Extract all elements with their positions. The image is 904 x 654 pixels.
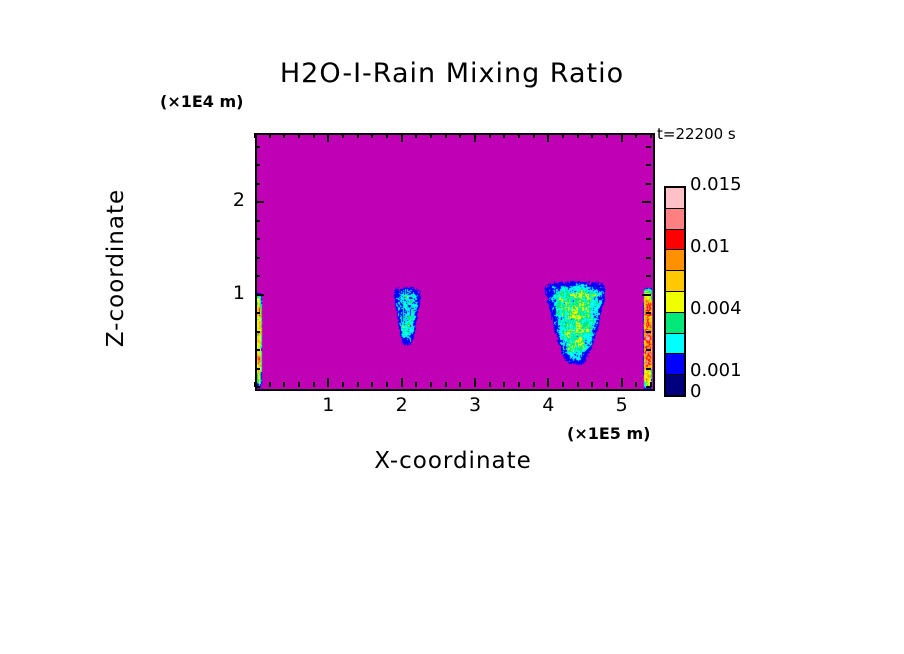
- colorbar-band: [666, 334, 684, 355]
- x-tick-major-top: [474, 133, 476, 142]
- x-tick-minor: [562, 382, 564, 387]
- y-tick-minor-right: [646, 331, 651, 333]
- x-tick-major: [401, 378, 403, 387]
- y-tick-minor-right: [646, 220, 651, 222]
- x-tick-major-top: [401, 133, 403, 142]
- y-tick-minor-right: [646, 386, 651, 388]
- x-tick-minor: [386, 382, 388, 387]
- y-tick-label: 2: [205, 189, 245, 211]
- x-tick-major: [474, 378, 476, 387]
- colorbar-tick-label: 0.015: [690, 174, 742, 195]
- colorbar-band: [666, 250, 684, 271]
- y-tick-minor-right: [646, 349, 651, 351]
- y-tick-minor: [255, 368, 260, 370]
- y-axis-unit-label: (×1E4 m): [160, 92, 243, 111]
- x-tick-minor: [591, 382, 593, 387]
- colorbar-band: [666, 313, 684, 334]
- y-tick-minor-right: [646, 183, 651, 185]
- x-tick-major-top: [547, 133, 549, 142]
- y-tick-major: [255, 294, 264, 296]
- y-tick-minor-right: [646, 312, 651, 314]
- x-tick-minor-top: [518, 133, 520, 138]
- x-tick-minor: [269, 382, 271, 387]
- y-tick-minor: [255, 164, 260, 166]
- y-tick-minor: [255, 275, 260, 277]
- x-tick-minor: [635, 382, 637, 387]
- colorbar-band: [666, 209, 684, 230]
- x-tick-minor-top: [650, 133, 652, 138]
- x-tick-minor-top: [591, 133, 593, 138]
- x-tick-minor: [415, 382, 417, 387]
- y-tick-minor-right: [646, 275, 651, 277]
- y-tick-minor-right: [646, 164, 651, 166]
- x-tick-minor-top: [459, 133, 461, 138]
- x-tick-label: 4: [528, 394, 568, 416]
- y-tick-minor: [255, 238, 260, 240]
- colorbar-band: [666, 375, 684, 395]
- x-tick-minor: [342, 382, 344, 387]
- plot-area: [255, 133, 655, 391]
- x-tick-minor-top: [430, 133, 432, 138]
- x-tick-minor-top: [577, 133, 579, 138]
- x-tick-major-top: [621, 133, 623, 142]
- colorbar-band: [666, 354, 684, 375]
- x-tick-minor-top: [269, 133, 271, 138]
- x-tick-minor-top: [298, 133, 300, 138]
- y-tick-minor-right: [646, 146, 651, 148]
- x-tick-minor: [313, 382, 315, 387]
- x-tick-minor-top: [562, 133, 564, 138]
- figure-title: H2O-I-Rain Mixing Ratio: [0, 58, 904, 89]
- x-tick-minor-top: [371, 133, 373, 138]
- y-tick-minor-right: [646, 238, 651, 240]
- x-tick-minor: [533, 382, 535, 387]
- x-tick-minor: [489, 382, 491, 387]
- y-tick-minor-right: [646, 368, 651, 370]
- y-tick-minor: [255, 257, 260, 259]
- colorbar-tick-label: 0.004: [690, 298, 742, 319]
- heatmap-canvas: [257, 135, 653, 389]
- x-tick-minor-top: [503, 133, 505, 138]
- y-axis-title: Z-coordinate: [103, 138, 129, 398]
- colorbar-tick-label: 0.001: [690, 360, 742, 381]
- x-axis-title: X-coordinate: [255, 448, 651, 474]
- figure-root: H2O-I-Rain Mixing Ratio (×1E4 m) t=22200…: [0, 0, 904, 654]
- y-tick-minor-right: [646, 257, 651, 259]
- x-tick-minor-top: [283, 133, 285, 138]
- x-tick-major-top: [327, 133, 329, 142]
- x-tick-minor: [606, 382, 608, 387]
- colorbar-tick-label: 0: [690, 381, 701, 402]
- x-tick-minor-top: [313, 133, 315, 138]
- colorbar: [664, 186, 686, 397]
- x-tick-minor: [445, 382, 447, 387]
- x-tick-minor-top: [254, 133, 256, 138]
- y-tick-minor: [255, 349, 260, 351]
- x-tick-minor: [503, 382, 505, 387]
- x-tick-minor-top: [357, 133, 359, 138]
- y-tick-major: [255, 201, 264, 203]
- x-tick-label: 5: [602, 394, 642, 416]
- x-tick-minor: [577, 382, 579, 387]
- x-tick-minor: [357, 382, 359, 387]
- y-tick-minor: [255, 183, 260, 185]
- colorbar-band: [666, 230, 684, 251]
- timestamp-annotation: t=22200 s: [657, 125, 736, 143]
- y-tick-label: 1: [205, 282, 245, 304]
- y-tick-minor: [255, 220, 260, 222]
- y-tick-major-right: [642, 201, 651, 203]
- x-tick-major: [547, 378, 549, 387]
- x-tick-label: 2: [382, 394, 422, 416]
- colorbar-tick-label: 0.01: [690, 236, 730, 257]
- x-tick-minor-top: [415, 133, 417, 138]
- x-tick-minor-top: [606, 133, 608, 138]
- x-tick-label: 1: [308, 394, 348, 416]
- x-tick-label: 3: [455, 394, 495, 416]
- x-tick-minor-top: [386, 133, 388, 138]
- colorbar-band: [666, 271, 684, 292]
- y-tick-minor: [255, 386, 260, 388]
- x-tick-minor-top: [489, 133, 491, 138]
- y-tick-major-right: [642, 294, 651, 296]
- x-tick-minor: [283, 382, 285, 387]
- y-tick-minor: [255, 331, 260, 333]
- x-tick-minor-top: [445, 133, 447, 138]
- x-tick-major: [621, 378, 623, 387]
- y-tick-minor: [255, 146, 260, 148]
- x-tick-minor: [518, 382, 520, 387]
- x-tick-minor-top: [635, 133, 637, 138]
- colorbar-band: [666, 188, 684, 209]
- x-axis-unit-label: (×1E5 m): [567, 424, 650, 443]
- x-tick-minor: [459, 382, 461, 387]
- x-tick-minor-top: [342, 133, 344, 138]
- x-tick-minor-top: [533, 133, 535, 138]
- x-tick-minor: [430, 382, 432, 387]
- x-tick-minor: [371, 382, 373, 387]
- x-tick-minor: [298, 382, 300, 387]
- x-tick-major: [327, 378, 329, 387]
- colorbar-band: [666, 292, 684, 313]
- y-tick-minor: [255, 312, 260, 314]
